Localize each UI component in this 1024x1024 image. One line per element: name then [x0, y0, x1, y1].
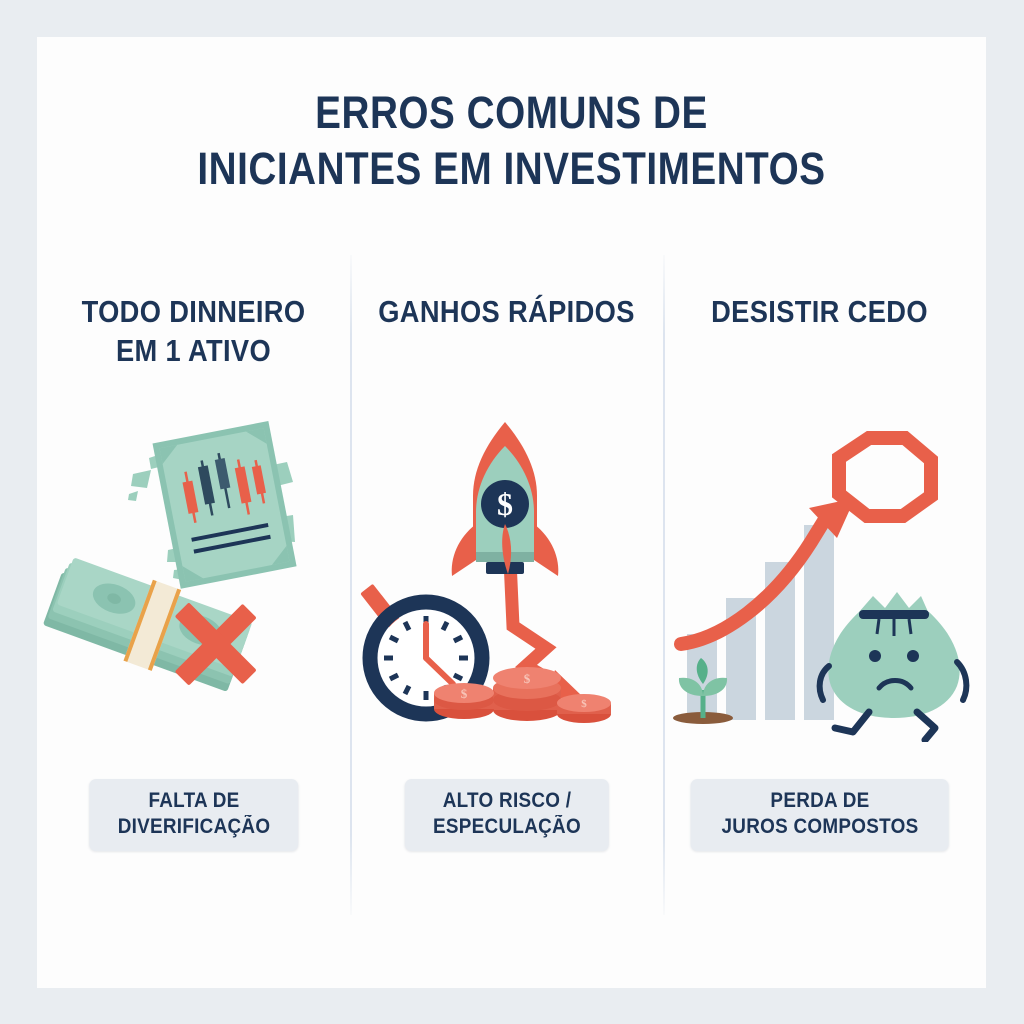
title-line-2: INICIANTES EM INVESTIMENTOS — [103, 141, 919, 197]
column-3-heading-line-1: DESISTIR CEDO — [682, 292, 957, 331]
illustration-loss-of-compound-interest — [663, 412, 976, 742]
broken-certificate-cash-icon — [37, 412, 350, 742]
column-desistir-cedo: DESISTIR CEDO — [663, 292, 976, 932]
badge-3-line-2: JUROS COMPOSTOS — [721, 814, 918, 840]
column-1-heading-line-2: EM 1 ATIVO — [56, 331, 331, 370]
illustration-lack-of-diversification — [37, 412, 350, 742]
badge-2-line-1: ALTO RISCO / — [433, 788, 581, 814]
badge-1-line-1: FALTA DE — [117, 788, 270, 814]
sad-money-bag-icon — [820, 592, 967, 740]
badge-falta-de-diverificacao: FALTA DE DIVERIFICAÇÃO — [89, 779, 299, 851]
page-title: ERROS COMUNS DE INICIANTES EM INVESTIMEN… — [37, 85, 986, 197]
column-2-heading: GANHOS RÁPIDOS — [350, 292, 663, 331]
stock-certificate-icon — [153, 421, 297, 589]
badge-1-line-2: DIVERIFICAÇÃO — [117, 814, 270, 840]
svg-text:$: $ — [461, 686, 468, 701]
sprout-icon — [673, 658, 733, 724]
infographic-page: ERROS COMUNS DE INICIANTES EM INVESTIMEN… — [0, 0, 1024, 1024]
svg-text:$: $ — [581, 698, 587, 710]
column-1-heading-line-1: TODO DINNEIRO — [56, 292, 331, 331]
growth-bars-money-bag-icon — [663, 412, 976, 742]
infographic-card: ERROS COMUNS DE INICIANTES EM INVESTIMEN… — [37, 37, 986, 988]
badge-3-line-1: PERDA DE — [721, 788, 918, 814]
badge-alto-risco-especulacao: ALTO RISCO / ESPECULAÇÃO — [404, 779, 608, 851]
svg-text:$: $ — [524, 671, 531, 686]
column-ganhos-rapidos: GANHOS RÁPIDOS $ — [350, 292, 663, 932]
column-todo-dinheiro-em-1-ativo: TODO DINNEIRO EM 1 ATIVO — [37, 292, 350, 932]
column-2-heading-line-1: GANHOS RÁPIDOS — [369, 292, 644, 331]
rocket-clock-coins-icon: $ — [350, 412, 663, 742]
title-line-1: ERROS COMUNS DE — [103, 85, 919, 141]
column-1-heading: TODO DINNEIRO EM 1 ATIVO — [37, 292, 350, 370]
dollar-symbol: $ — [497, 486, 513, 522]
badge-2-line-2: ESPECULAÇÃO — [433, 814, 581, 840]
badge-perda-de-juros-compostos: PERDA DE JUROS COMPOSTOS — [690, 779, 949, 851]
column-3-heading: DESISTIR CEDO — [663, 292, 976, 331]
rocket-icon: $ — [452, 422, 559, 576]
illustration-high-risk-speculation: $ — [350, 412, 663, 742]
